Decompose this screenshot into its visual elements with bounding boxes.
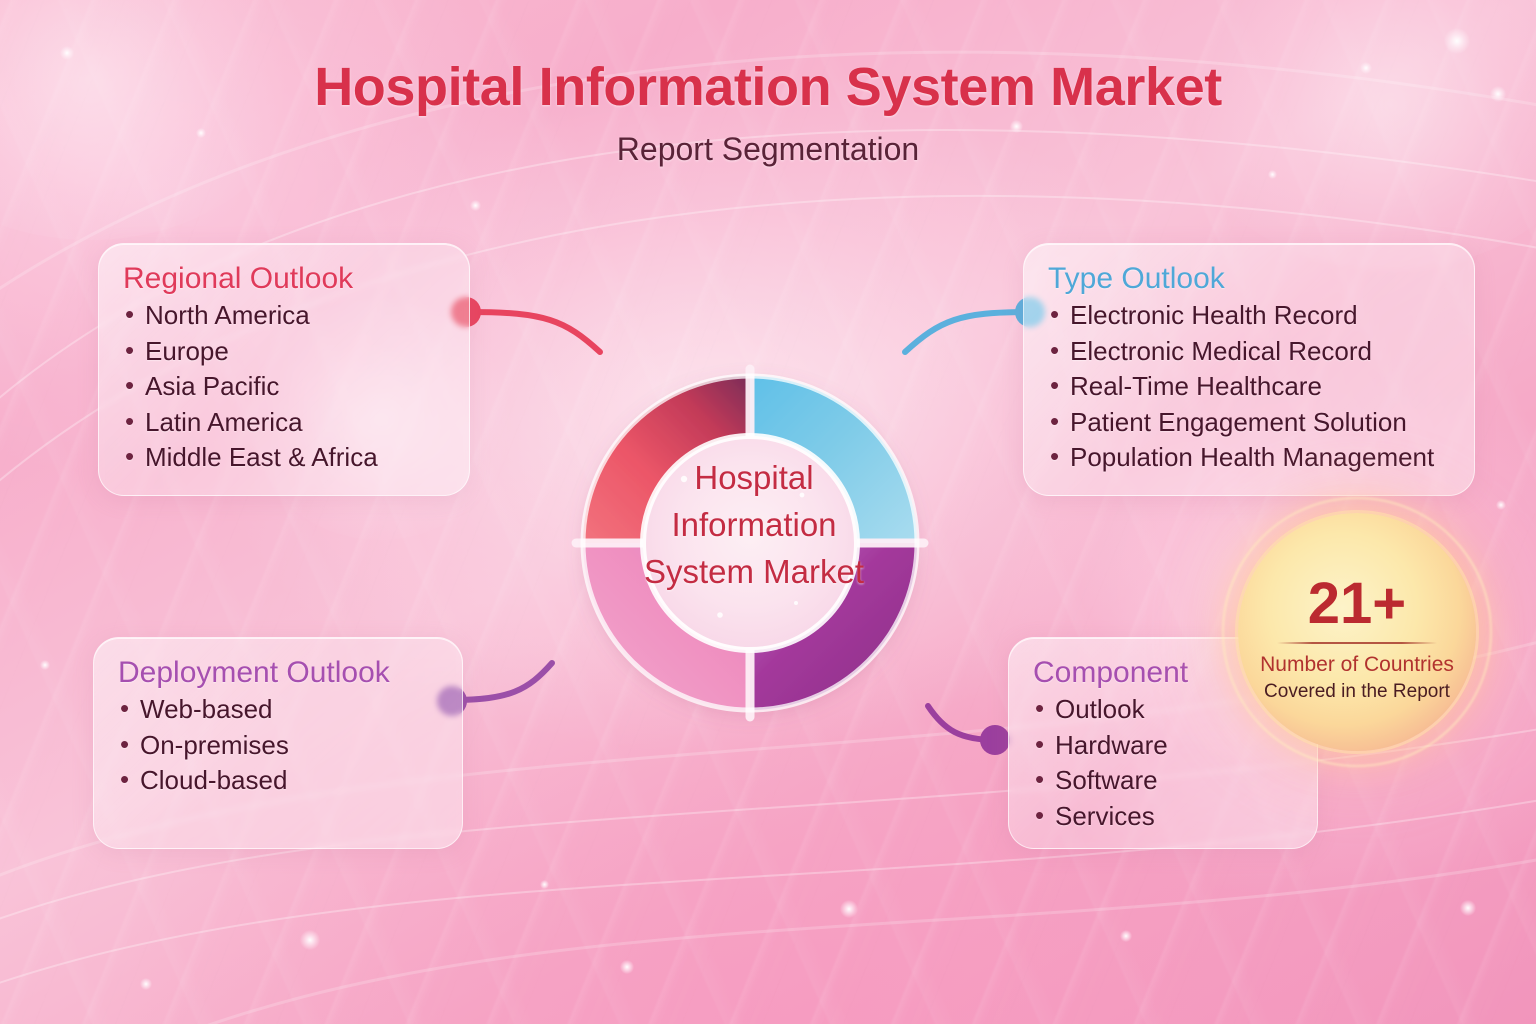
badge-divider xyxy=(1277,642,1437,644)
list-item: Population Health Management xyxy=(1048,440,1452,476)
page-title: Hospital Information System Market xyxy=(0,56,1536,118)
badge-label-line-2: Covered in the Report xyxy=(1264,679,1450,705)
list-item: Real-Time Healthcare xyxy=(1048,369,1452,405)
list-item: On-premises xyxy=(118,728,440,764)
card-list-deployment-outlook: Web-based On-premises Cloud-based xyxy=(118,692,440,799)
segmentation-donut-chart xyxy=(470,283,1030,803)
list-item: Middle East & Africa xyxy=(123,440,447,476)
list-item: Software xyxy=(1033,763,1295,799)
list-item: Europe xyxy=(123,334,447,370)
card-title-type-outlook: Type Outlook xyxy=(1048,262,1452,296)
list-item: Electronic Health Record xyxy=(1048,298,1452,334)
list-item: North America xyxy=(123,298,447,334)
card-regional-outlook[interactable]: Regional Outlook North America Europe As… xyxy=(98,243,470,496)
badge-label-line-1: Number of Countries xyxy=(1260,652,1454,677)
list-item: Electronic Medical Record xyxy=(1048,334,1452,370)
badge-number: 21+ xyxy=(1308,575,1406,633)
card-title-deployment-outlook: Deployment Outlook xyxy=(118,656,440,690)
list-item: Services xyxy=(1033,799,1295,835)
list-item: Latin America xyxy=(123,405,447,441)
page-subtitle: Report Segmentation xyxy=(0,131,1536,168)
card-type-outlook[interactable]: Type Outlook Electronic Health Record El… xyxy=(1023,243,1475,496)
list-item: Cloud-based xyxy=(118,763,440,799)
card-list-regional-outlook: North America Europe Asia Pacific Latin … xyxy=(123,298,447,476)
infographic-canvas: Hospital Information System Market Repor… xyxy=(0,0,1536,1024)
list-item: Patient Engagement Solution xyxy=(1048,405,1452,441)
countries-covered-badge: 21+ Number of Countries Covered in the R… xyxy=(1238,513,1476,751)
list-item: Web-based xyxy=(118,692,440,728)
list-item: Asia Pacific xyxy=(123,369,447,405)
list-item: Hardware xyxy=(1033,728,1295,764)
card-list-type-outlook: Electronic Health Record Electronic Medi… xyxy=(1048,298,1452,476)
card-deployment-outlook[interactable]: Deployment Outlook Web-based On-premises… xyxy=(93,637,463,849)
card-title-regional-outlook: Regional Outlook xyxy=(123,262,447,296)
